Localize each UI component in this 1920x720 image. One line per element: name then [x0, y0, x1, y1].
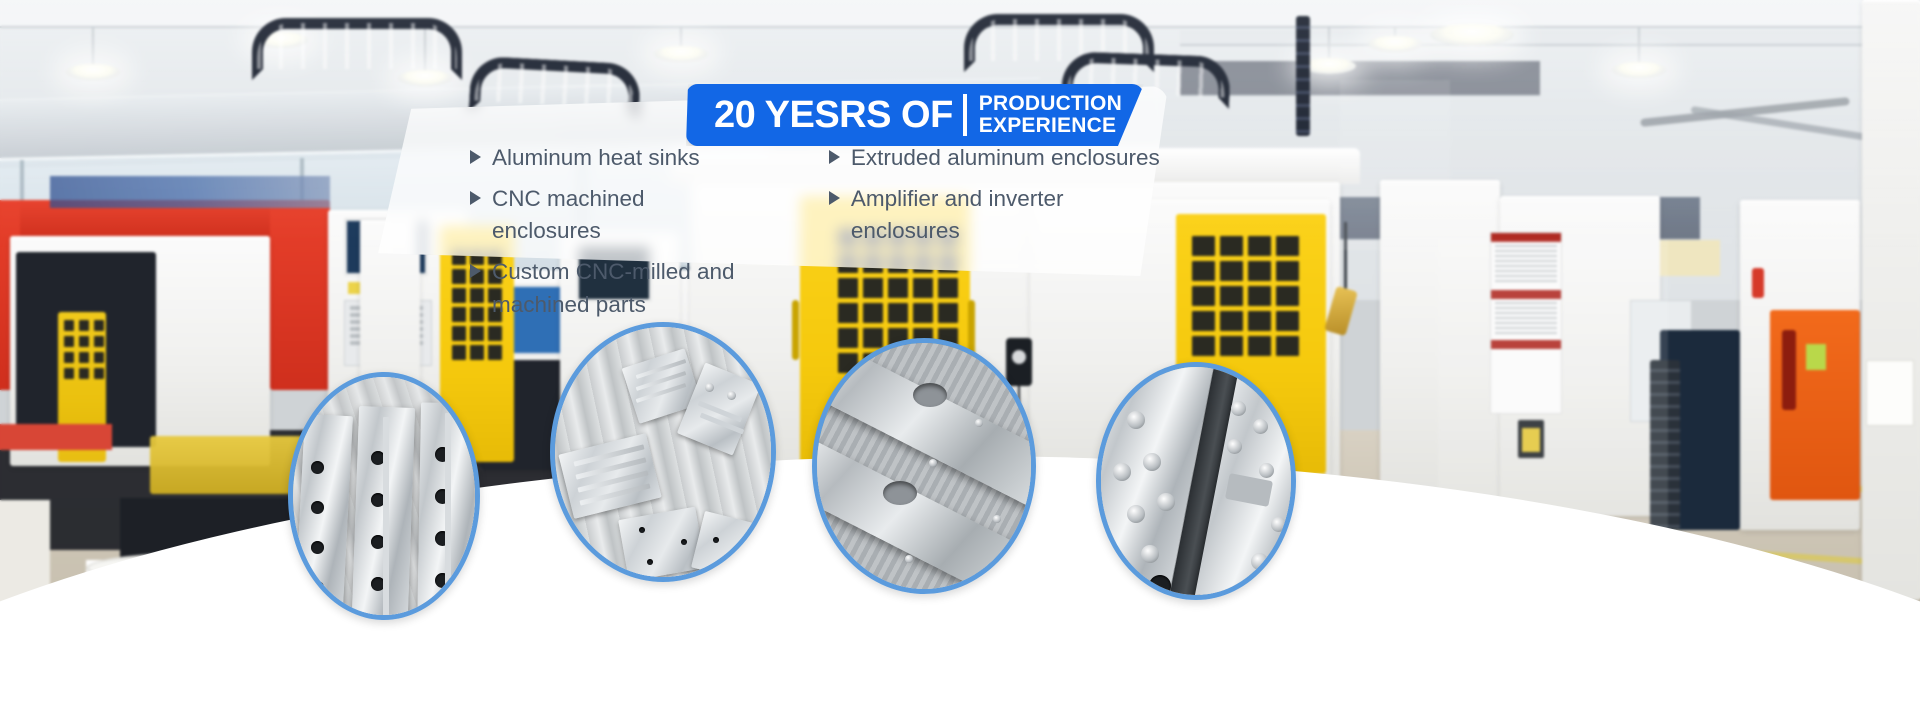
drilled-hole [311, 501, 324, 514]
product-photo-3[interactable] [812, 338, 1036, 594]
threaded-boss [1231, 401, 1246, 416]
feature-label: Extruded aluminum enclosures [851, 142, 1160, 175]
badge-years-text: 20 YESRS OF [714, 94, 953, 137]
ceiling-beam [1180, 30, 1920, 46]
drilled-hole [713, 537, 719, 543]
list-item[interactable]: Amplifier and inverter enclosures [829, 183, 1168, 248]
threaded-boss [1113, 463, 1131, 481]
drilled-hole [681, 539, 687, 545]
dowel-pin [929, 459, 937, 467]
experience-badge: 20 YESRS OF PRODUCTION EXPERIENCE [686, 84, 1144, 146]
counterbore [883, 481, 917, 505]
ceiling-lamp [1368, 36, 1422, 52]
wall-notice [1660, 240, 1720, 276]
threaded-boss [1127, 411, 1145, 429]
glass-reflection [1438, 240, 1668, 530]
triangle-right-icon [829, 191, 840, 205]
threaded-boss [1271, 517, 1286, 532]
cnc-door-window-grid [1192, 236, 1299, 356]
glass-reflection [1340, 80, 1450, 250]
red-tray [0, 424, 112, 450]
machine-cabinet-red-right [270, 200, 330, 390]
drilled-hole [1149, 575, 1171, 597]
threaded-boss [1253, 419, 1268, 434]
feature-label: Aluminum heat sinks [492, 142, 700, 175]
drilled-hole [751, 549, 757, 555]
feature-label: Amplifier and inverter enclosures [851, 183, 1168, 248]
vertical-drag-chain [1296, 16, 1310, 136]
wall-column [1862, 0, 1920, 600]
threaded-boss [1143, 453, 1161, 471]
features-column-left: Aluminum heat sinks CNC machined enclosu… [470, 142, 751, 329]
warning-beacon [1752, 268, 1764, 298]
feature-label: Custom CNC-milled and machined parts [492, 256, 735, 321]
ceiling-lamp [1302, 58, 1356, 74]
triangle-right-icon [470, 264, 481, 278]
badge-subtitle: PRODUCTION EXPERIENCE [979, 93, 1122, 138]
mounting-boss [705, 383, 714, 392]
list-item[interactable]: Extruded aluminum enclosures [829, 142, 1168, 175]
triangle-right-icon [829, 150, 840, 164]
wall-notice-paper [1866, 360, 1914, 426]
threaded-boss [1259, 463, 1274, 478]
milled-slot [445, 413, 451, 620]
counterbore [913, 383, 947, 407]
threaded-boss [1251, 553, 1268, 570]
triangle-right-icon [470, 150, 481, 164]
product-photo-2[interactable] [550, 322, 776, 582]
vertical-bar-icon [963, 94, 967, 136]
drilled-hole [311, 541, 324, 554]
dowel-pin [905, 555, 913, 563]
cable-drag-chain [252, 18, 462, 80]
dowel-pin [841, 373, 849, 381]
drilled-hole [647, 559, 653, 565]
yellow-bin-grid [64, 320, 104, 379]
milled-slot [383, 417, 389, 620]
product-photo-4[interactable] [1096, 362, 1296, 600]
lamp-stem [92, 26, 94, 68]
feature-label: CNC machined enclosures [492, 183, 751, 248]
lamp-stem [1638, 26, 1640, 66]
machine-banner [50, 176, 330, 208]
lamp-stem [1328, 26, 1330, 62]
mounting-boss [727, 391, 736, 400]
ceiling-lamp [654, 46, 708, 62]
threaded-boss [1141, 545, 1159, 563]
features-list: Aluminum heat sinks CNC machined enclosu… [470, 142, 1168, 329]
ceiling-lamp [66, 64, 120, 80]
fire-extinguisher [1782, 330, 1796, 410]
ceiling-lamp [1430, 24, 1514, 46]
dowel-pin [993, 515, 1001, 523]
drilled-hole [639, 527, 645, 533]
triangle-right-icon [470, 191, 481, 205]
ceiling-lamp [1612, 62, 1666, 78]
safety-sign [1806, 344, 1826, 370]
product-photo-1[interactable] [288, 372, 480, 620]
drilled-hole [311, 461, 324, 474]
drilled-hole [311, 581, 324, 594]
list-item[interactable]: Custom CNC-milled and machined parts [470, 256, 751, 321]
list-item[interactable]: CNC machined enclosures [470, 183, 751, 248]
features-column-right: Extruded aluminum enclosures Amplifier a… [829, 142, 1168, 329]
dowel-pin [975, 419, 983, 427]
list-item[interactable]: Aluminum heat sinks [470, 142, 751, 175]
banner-stage: CNC 190kg Aluminum heat sinks CNC machin… [0, 0, 1920, 720]
threaded-boss [1127, 505, 1145, 523]
threaded-boss [1227, 439, 1242, 454]
threaded-boss [1157, 493, 1175, 511]
